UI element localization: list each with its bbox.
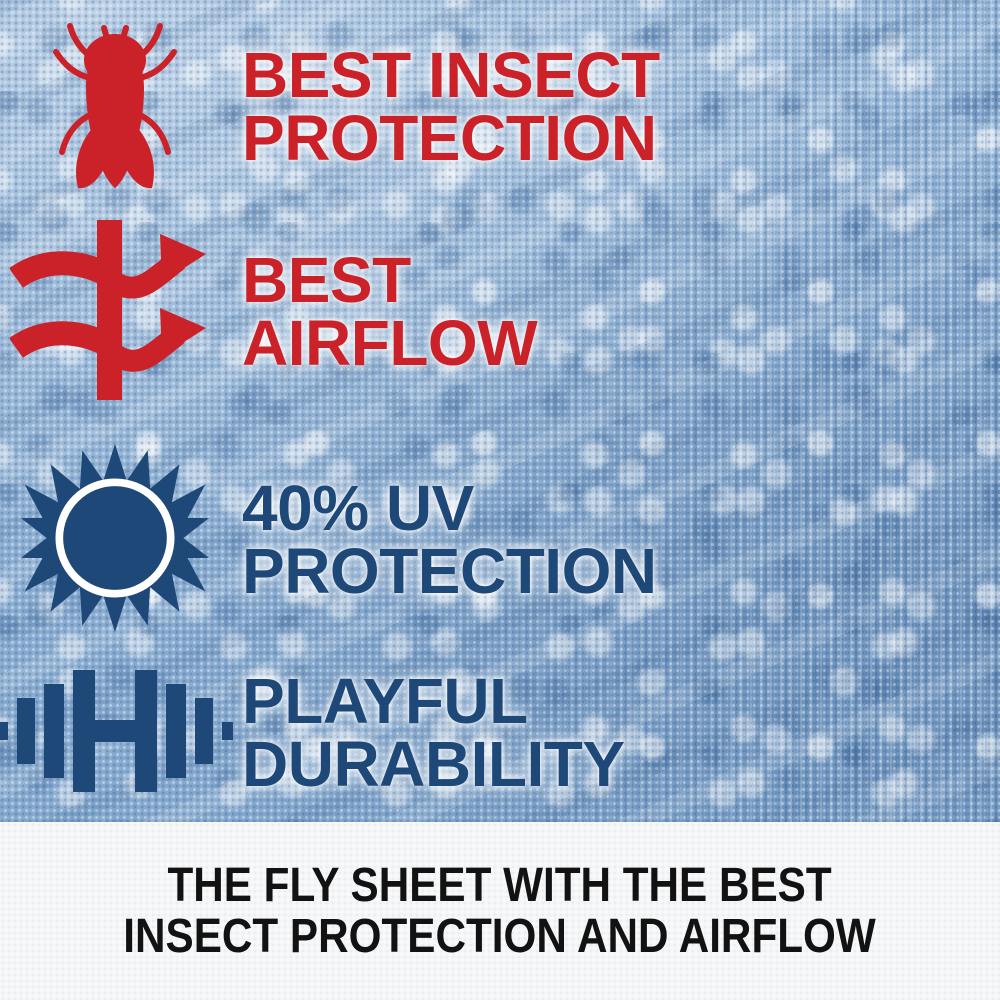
caption-text: THE FLY SHEET WITH THE BEST INSECT PROTE… [115, 860, 885, 963]
feature-label-cell: BEST INSECT PROTECTION [230, 44, 1000, 171]
feature-list: BEST INSECT PROTECTION [0, 0, 1000, 822]
sun-uv-icon [19, 442, 211, 639]
caption-panel: THE FLY SHEET WITH THE BEST INSECT PROTE… [0, 822, 1000, 1000]
product-feature-poster: BEST INSECT PROTECTION [0, 0, 1000, 1000]
feature-label-cell: PLAYFUL DURABILITY [230, 670, 1000, 797]
feature-icon-cell [0, 12, 230, 202]
feature-row-airflow: BEST AIRFLOW [0, 212, 1000, 412]
feature-label-cell: BEST AIRFLOW [230, 249, 1000, 376]
feature-label-airflow: BEST AIRFLOW [242, 249, 1000, 376]
feature-row-uv-protection: 40% UV PROTECTION [0, 436, 1000, 644]
feature-row-insect-protection: BEST INSECT PROTECTION [0, 12, 1000, 202]
feature-icon-cell [0, 220, 230, 405]
feature-icon-cell [0, 668, 230, 799]
airflow-arrows-icon [10, 220, 220, 405]
feature-icon-cell [0, 442, 230, 639]
fly-icon [40, 12, 190, 202]
feature-label-cell: 40% UV PROTECTION [230, 477, 1000, 604]
feature-label-uv-protection: 40% UV PROTECTION [242, 477, 1000, 604]
dumbbell-icon [0, 668, 233, 799]
feature-label-insect-protection: BEST INSECT PROTECTION [242, 44, 1000, 171]
feature-row-durability: PLAYFUL DURABILITY [0, 648, 1000, 818]
feature-label-durability: PLAYFUL DURABILITY [242, 670, 1000, 797]
